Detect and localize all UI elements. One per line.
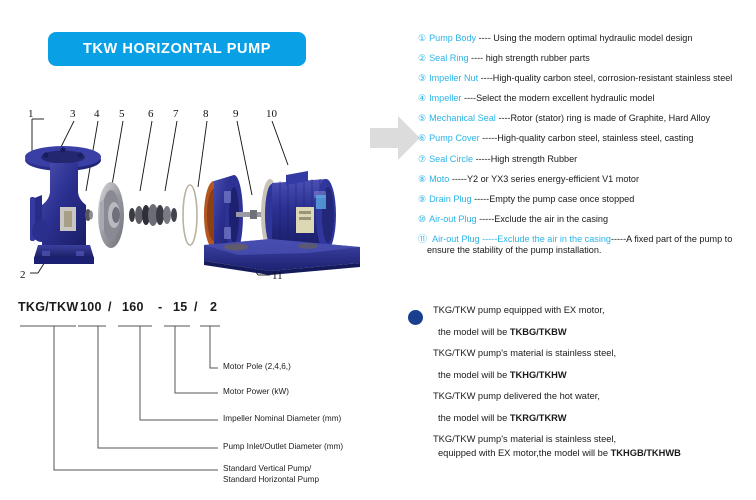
feature-item: ⑤ Mechanical Seal ----Rotor (stator) rin…: [418, 113, 754, 124]
feature-item-last: ⑪ Air-out Plug -----Exclude the air in t…: [418, 234, 754, 256]
page-title: TKW HORIZONTAL PUMP: [83, 41, 271, 57]
feature-text: Pump Body ---- Using the modern optimal …: [429, 33, 692, 44]
feature-text: Seal Ring ---- high strength rubber part…: [429, 53, 590, 64]
feature-number: ⑦: [418, 154, 426, 165]
feature-number: ⑤: [418, 113, 426, 124]
page-title-banner: TKW HORIZONTAL PUMP: [48, 32, 306, 66]
note-line: TKG/TKW pump delivered the hot water,: [433, 391, 753, 402]
svg-text:4: 4: [94, 108, 100, 120]
model-naming-notes: TKG/TKW pump equipped with EX motor, the…: [408, 305, 753, 470]
svg-text:5: 5: [119, 108, 125, 120]
feature-item: ⑧ Moto -----Y2 or YX3 series energy-effi…: [418, 174, 754, 185]
svg-text:8: 8: [203, 108, 209, 120]
note-line: TKG/TKW pump's material is stainless ste…: [433, 348, 753, 359]
feature-cyan-text: Air-out Plug -----Exclude the air in the…: [432, 234, 611, 244]
mechanical-seal-part: [129, 204, 177, 226]
impeller-nut-part: [85, 209, 93, 221]
feature-item: ④ Impeller ----Select the modern excelle…: [418, 93, 754, 104]
feature-number: ⑧: [418, 174, 426, 185]
svg-text:6: 6: [148, 108, 154, 120]
note-line: TKG/TKW pump's material is stainless ste…: [433, 434, 753, 445]
svg-text:1: 1: [28, 108, 34, 120]
feature-item: ⑥ Pump Cover -----High-quality carbon st…: [418, 133, 754, 144]
feature-number: ⑨: [418, 194, 426, 205]
feature-black-text: -----A fixed part of the pump to: [611, 234, 732, 244]
impeller-part: [98, 182, 124, 248]
feature-number: ②: [418, 53, 426, 64]
feature-number: ⑥: [418, 133, 426, 144]
feature-item: ⑦ Seal Circle -----High strength Rubber: [418, 154, 754, 165]
svg-text:3: 3: [70, 108, 76, 120]
desc-standard-pump-1: Standard Vertical Pump/: [223, 464, 311, 475]
feature-number: ①: [418, 33, 426, 44]
feature-item: ② Seal Ring ---- high strength rubber pa…: [418, 53, 754, 64]
component-feature-list: ① Pump Body ---- Using the modern optima…: [418, 33, 754, 265]
svg-text:11: 11: [272, 270, 283, 282]
feature-text: Pump Cover -----High-quality carbon stee…: [429, 133, 693, 144]
desc-motor-power: Motor Power (kW): [223, 387, 289, 398]
feature-number: ⑩: [418, 214, 426, 225]
feature-text: Air-out Plug -----Exclude the air in the…: [429, 214, 608, 225]
feature-text: Seal Circle -----High strength Rubber: [429, 154, 577, 165]
feature-item: ⑨ Drain Plug -----Empty the pump case on…: [418, 194, 754, 205]
motor-part: [236, 171, 336, 251]
bullet-dot-icon: [408, 310, 423, 325]
feature-text: Moto -----Y2 or YX3 series energy-effici…: [429, 174, 639, 185]
desc-standard-pump-2: Standard Horizontal Pump: [223, 475, 319, 486]
feature-text: Impeller Nut ----High-quality carbon ste…: [429, 73, 732, 84]
note-line: the model will be TKRG/TKRW: [433, 413, 753, 424]
feature-number: ⑪: [418, 234, 427, 244]
pump-body-part: [25, 146, 101, 264]
svg-text:7: 7: [173, 108, 179, 120]
feature-item: ⑩ Air-out Plug -----Exclude the air in t…: [418, 214, 754, 225]
note-line: the model will be TKHG/TKHW: [433, 370, 753, 381]
feature-text: Impeller ----Select the modern excellent…: [429, 93, 654, 104]
feature-text: Drain Plug -----Empty the pump case once…: [429, 194, 634, 205]
desc-motor-pole: Motor Pole (2,4,6,): [223, 362, 291, 373]
arrow-right-icon: [368, 112, 422, 164]
feature-number: ③: [418, 73, 426, 84]
svg-text:10: 10: [266, 108, 278, 120]
feature-item: ① Pump Body ---- Using the modern optima…: [418, 33, 754, 44]
feature-second-line: ensure the stability of the pump install…: [418, 245, 754, 256]
desc-impeller-dia: Impeller Nominal Diameter (mm): [223, 414, 341, 425]
feature-number: ④: [418, 93, 426, 104]
svg-text:2: 2: [20, 269, 26, 281]
model-code-breakdown: TKG/TKW 100 / 160 - 15 / 2: [18, 300, 393, 495]
exploded-pump-diagram: 1 3 4 5 6 7 8 9 10 2 11: [8, 95, 378, 285]
product-spec-sheet: TKW HORIZONTAL PUMP: [0, 0, 756, 500]
note-line: TKG/TKW pump equipped with EX motor,: [433, 305, 753, 316]
note-line: equipped with EX motor,the model will be…: [433, 448, 753, 459]
svg-text:9: 9: [233, 108, 239, 120]
model-leader-lines: [18, 300, 393, 495]
desc-inlet-outlet: Pump Inlet/Outlet Diameter (mm): [223, 442, 343, 453]
note-line: the model will be TKBG/TKBW: [433, 327, 753, 338]
seal-circle-part: [183, 185, 197, 245]
feature-item: ③ Impeller Nut ----High-quality carbon s…: [418, 73, 754, 84]
feature-text: Mechanical Seal ----Rotor (stator) ring …: [429, 113, 710, 124]
